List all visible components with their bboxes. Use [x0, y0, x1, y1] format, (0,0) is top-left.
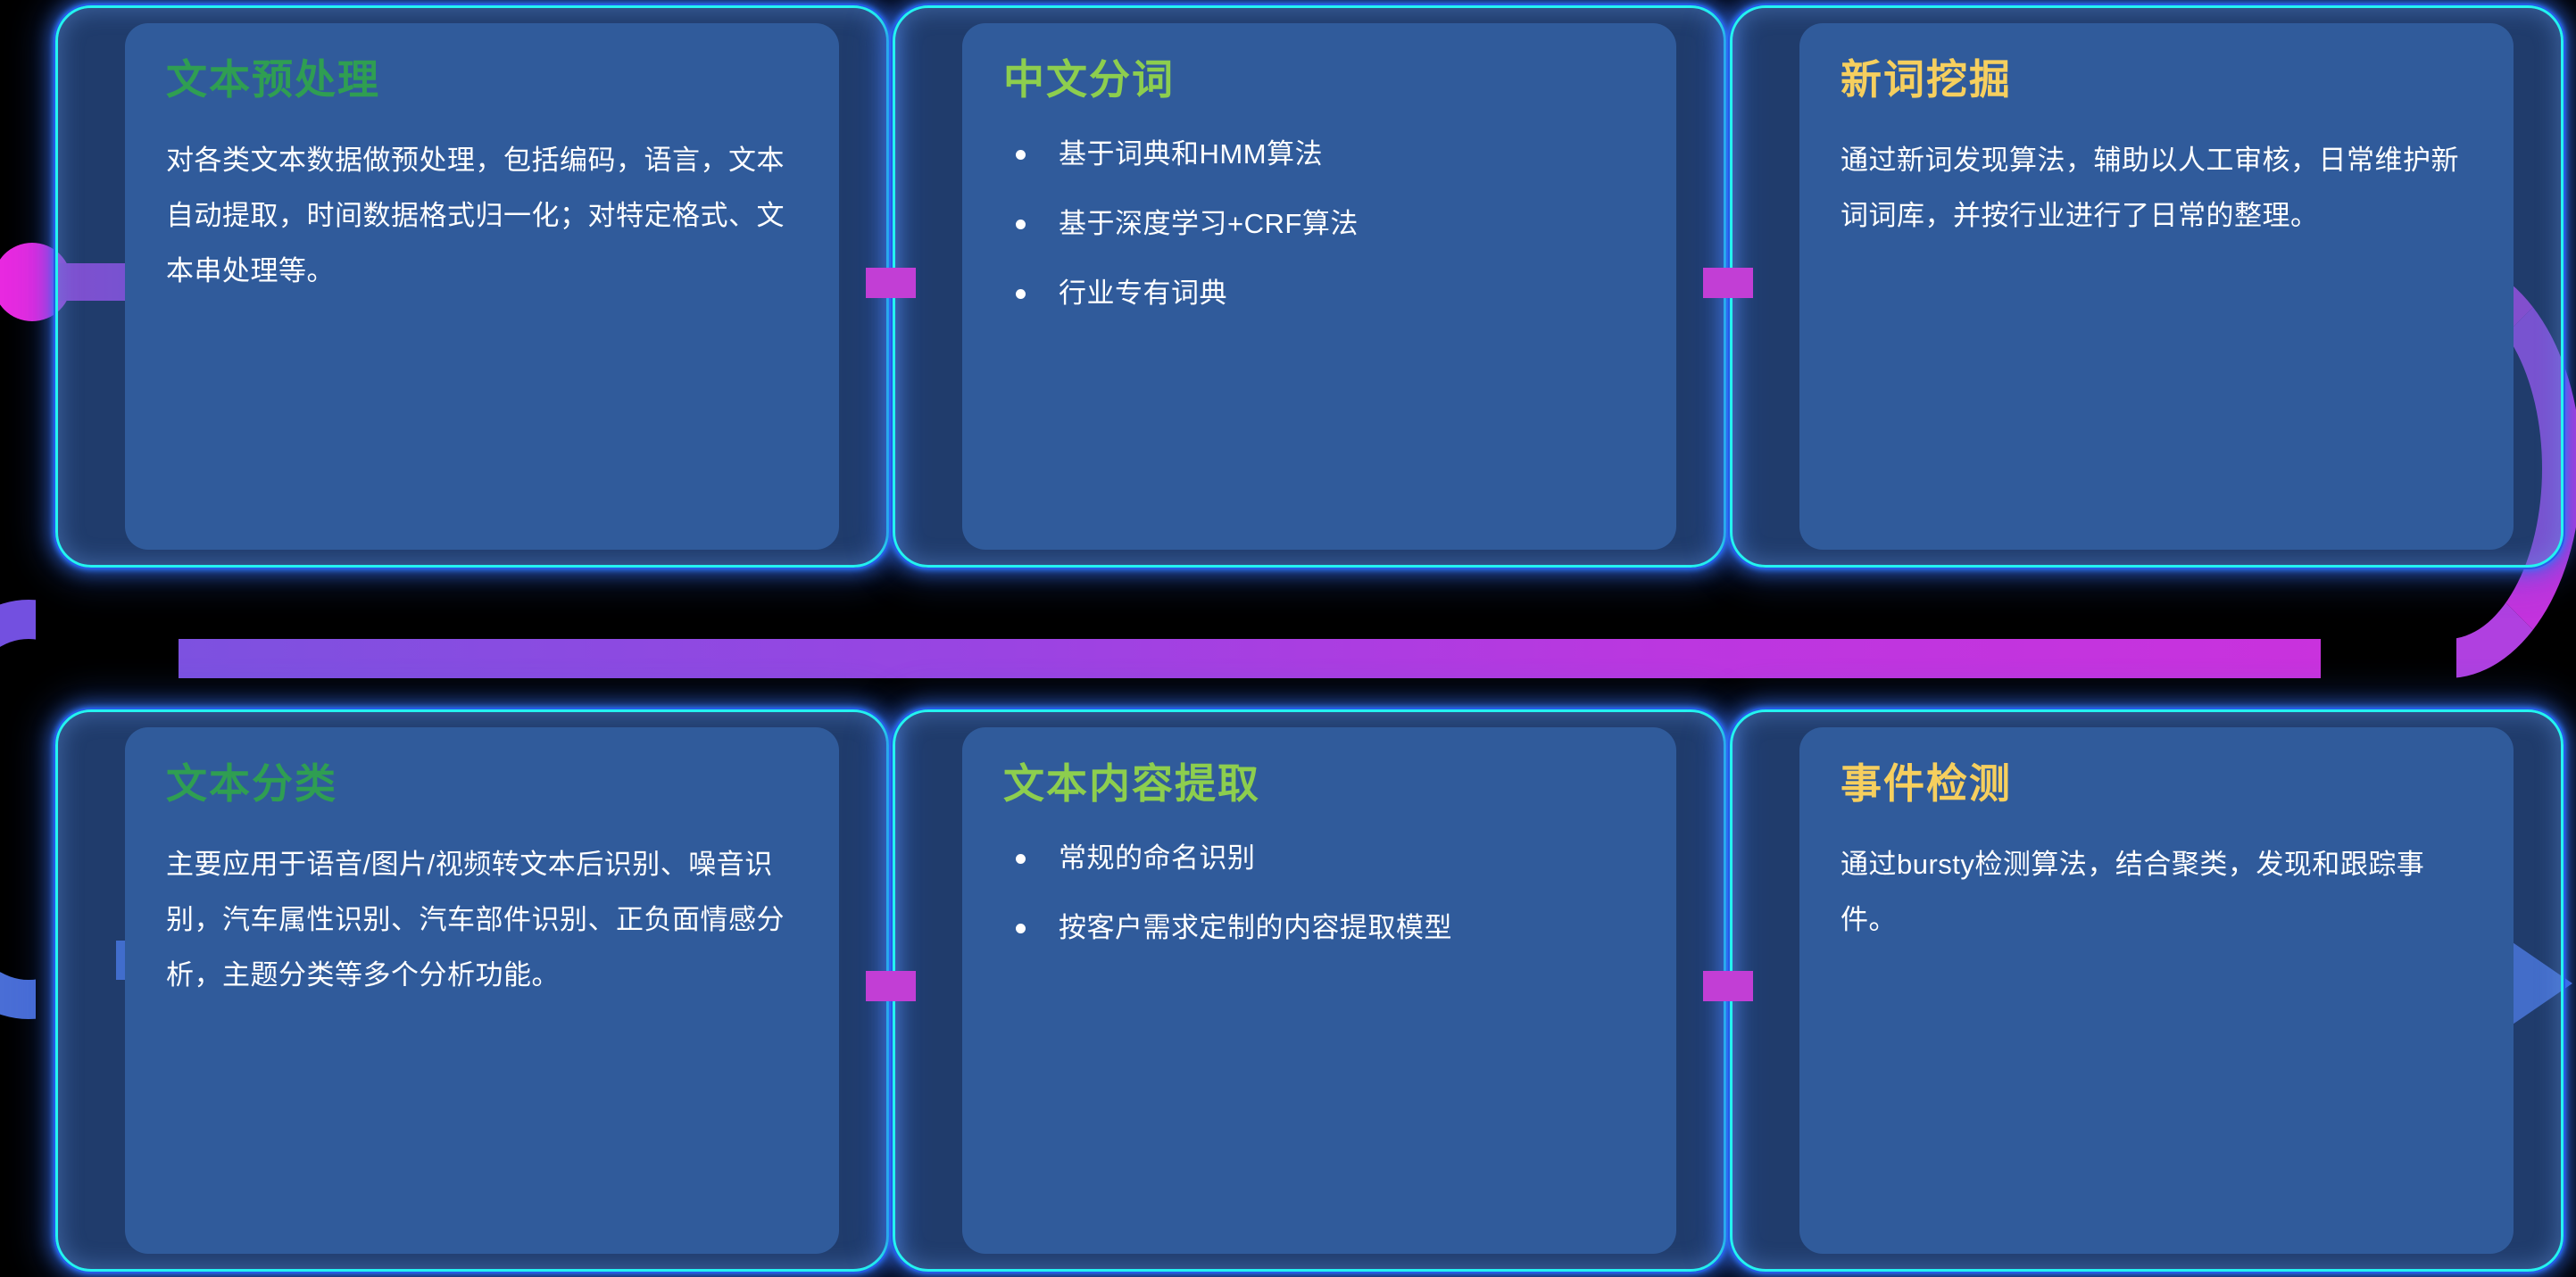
connector-chip-bottom-1: [866, 971, 916, 1001]
bullet-dot-icon: [1016, 289, 1026, 299]
bullet-label: 常规的命名识别: [1059, 842, 1256, 874]
card-title-chinese-word-segmentation: 中文分词: [1003, 57, 1635, 103]
card-title-text-preprocessing: 文本预处理: [166, 57, 798, 103]
card-title-text-classification: 文本分类: [166, 761, 798, 807]
card-bullets-chinese-word-segmentation: 基于词典和HMM算法 基于深度学习+CRF算法 行业专有词典: [1003, 133, 1635, 315]
bullet-label: 基于深度学习+CRF算法: [1059, 208, 1359, 239]
list-item: 基于词典和HMM算法: [1003, 133, 1635, 176]
connector-chip-bottom-2: [1703, 971, 1753, 1001]
card-new-word-discovery[interactable]: 新词挖掘 通过新词发现算法，辅助以人工审核，日常维护新词词库，并按行业进行了日常…: [1799, 23, 2514, 550]
list-item: 按客户需求定制的内容提取模型: [1003, 907, 1635, 949]
card-body-new-word-discovery: 通过新词发现算法，辅助以人工审核，日常维护新词词库，并按行业进行了日常的整理。: [1841, 133, 2472, 244]
bullet-dot-icon: [1016, 924, 1026, 933]
card-body-text-classification: 主要应用于语音/图片/视频转文本后识别、噪音识别，汽车属性识别、汽车部件识别、正…: [166, 837, 798, 1003]
card-bullets-text-content-extraction: 常规的命名识别 按客户需求定制的内容提取模型: [1003, 837, 1635, 949]
bullet-dot-icon: [1016, 150, 1026, 160]
card-body-event-detection: 通过bursty检测算法，结合聚类，发现和跟踪事件。: [1841, 837, 2472, 948]
flow-bottom-bar: [125, 639, 2321, 678]
bullet-label: 按客户需求定制的内容提取模型: [1059, 912, 1452, 943]
list-item: 基于深度学习+CRF算法: [1003, 203, 1635, 245]
card-chinese-word-segmentation[interactable]: 中文分词 基于词典和HMM算法 基于深度学习+CRF算法 行业专有词典: [962, 23, 1676, 550]
card-body-text-preprocessing: 对各类文本数据做预处理，包括编码，语言，文本自动提取，时间数据格式归一化；对特定…: [166, 133, 798, 299]
bullet-dot-icon: [1016, 854, 1026, 864]
connector-chip-top-2: [1703, 268, 1753, 298]
card-event-detection[interactable]: 事件检测 通过bursty检测算法，结合聚类，发现和跟踪事件。: [1799, 727, 2514, 1254]
bullet-label: 行业专有词典: [1059, 278, 1227, 309]
card-title-event-detection: 事件检测: [1841, 761, 2472, 807]
list-item: 行业专有词典: [1003, 272, 1635, 315]
card-title-text-content-extraction: 文本内容提取: [1003, 761, 1635, 807]
bullet-dot-icon: [1016, 220, 1026, 229]
bullet-label: 基于词典和HMM算法: [1059, 138, 1323, 170]
card-text-classification[interactable]: 文本分类 主要应用于语音/图片/视频转文本后识别、噪音识别，汽车属性识别、汽车部…: [125, 727, 839, 1254]
card-text-preprocessing[interactable]: 文本预处理 对各类文本数据做预处理，包括编码，语言，文本自动提取，时间数据格式归…: [125, 23, 839, 550]
card-title-new-word-discovery: 新词挖掘: [1841, 57, 2472, 103]
list-item: 常规的命名识别: [1003, 837, 1635, 880]
connector-chip-top-1: [866, 268, 916, 298]
flow-diagram: 文本预处理 对各类文本数据做预处理，包括编码，语言，文本自动提取，时间数据格式归…: [0, 0, 2576, 1277]
card-text-content-extraction[interactable]: 文本内容提取 常规的命名识别 按客户需求定制的内容提取模型: [962, 727, 1676, 1254]
